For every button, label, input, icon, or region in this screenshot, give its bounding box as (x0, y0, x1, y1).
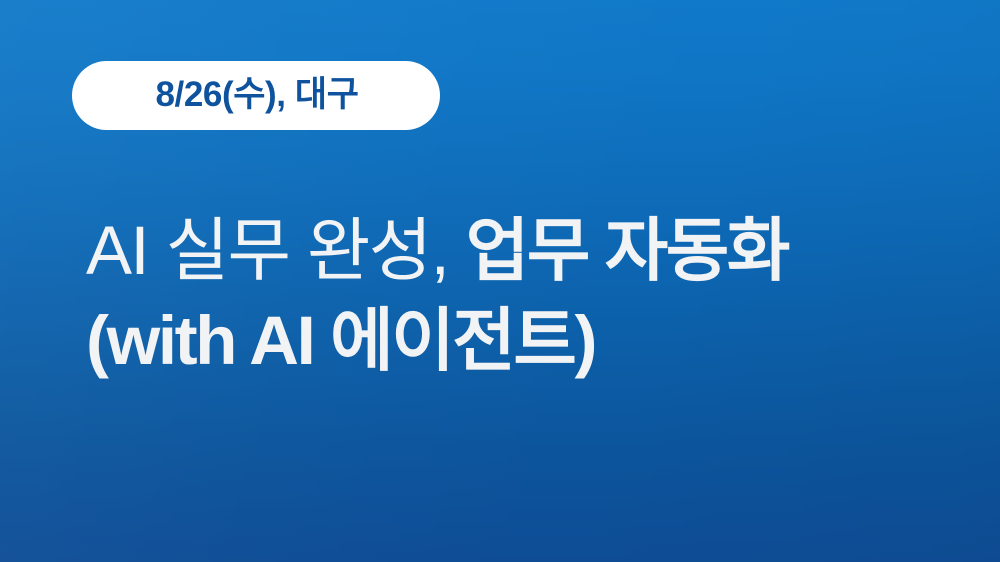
promo-banner: 8/26(수), 대구 AI 실무 완성, 업무 자동화 (with AI 에이… (0, 0, 1000, 562)
date-location-badge-label: 8/26(수), 대구 (155, 77, 358, 112)
headline-line-1-bold: 업무 자동화 (466, 212, 788, 289)
headline-line-2: (with AI 에이전트) (86, 296, 946, 386)
headline: AI 실무 완성, 업무 자동화 (with AI 에이전트) (86, 206, 946, 386)
headline-line-1-light: AI 실무 완성, (86, 212, 466, 289)
headline-line-1: AI 실무 완성, 업무 자동화 (86, 206, 946, 296)
banner-content: 8/26(수), 대구 AI 실무 완성, 업무 자동화 (with AI 에이… (0, 0, 1000, 562)
date-location-badge: 8/26(수), 대구 (72, 61, 440, 130)
